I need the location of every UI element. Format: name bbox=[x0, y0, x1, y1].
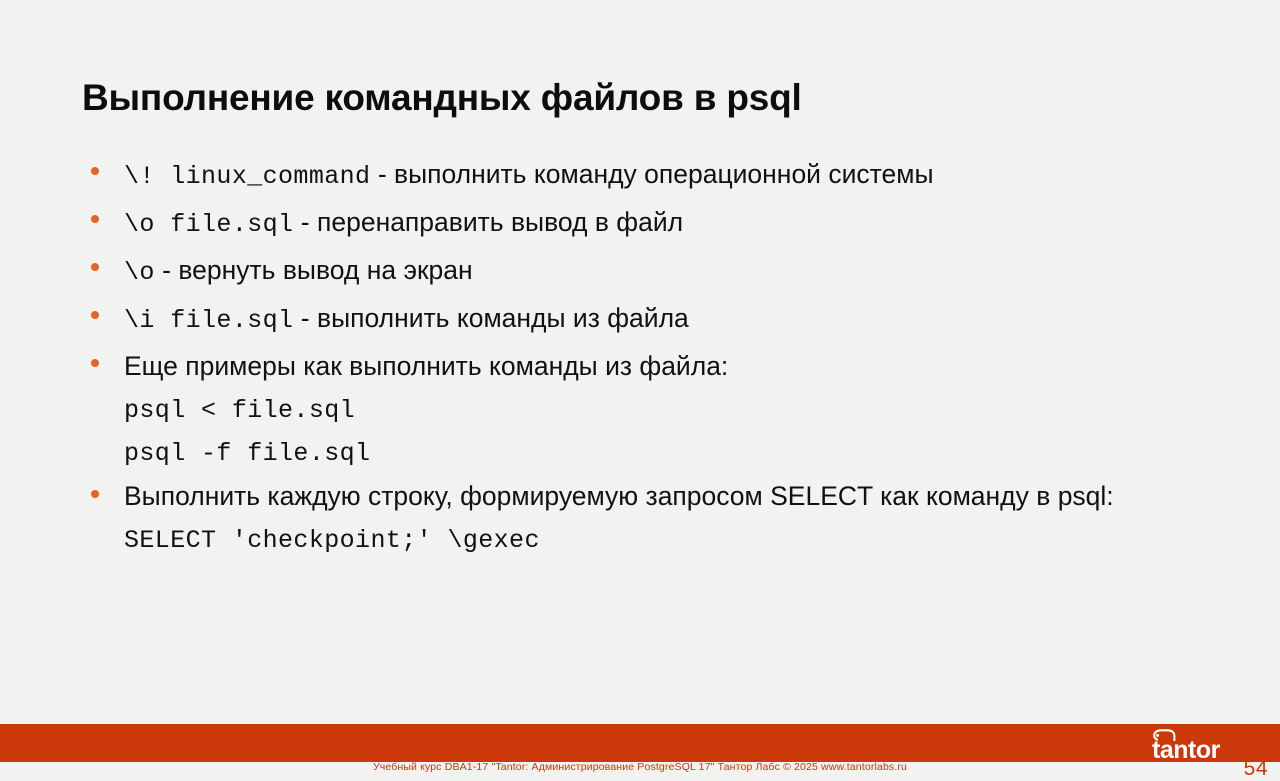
description-text: Выполнить каждую строку, формируемую зап… bbox=[124, 481, 1114, 511]
footer-copyright: Учебный курс DBA1-17 "Tantor: Администри… bbox=[0, 761, 1280, 773]
description-text: Еще примеры как выполнить команды из фай… bbox=[124, 351, 728, 381]
command-text: \! linux_command bbox=[124, 162, 370, 191]
logo-wordmark: tantor bbox=[1152, 736, 1221, 761]
list-item-line: Выполнить каждую строку, формируемую зап… bbox=[124, 475, 1242, 518]
list-item-line: \o file.sql - перенаправить вывод в файл bbox=[124, 200, 1242, 247]
code-block: psql < file.sql psql -f file.sql bbox=[82, 389, 1242, 475]
code-line: psql -f file.sql bbox=[124, 432, 1242, 475]
bullet-dot-icon bbox=[91, 215, 99, 223]
list-item: \o file.sql - перенаправить вывод в файл bbox=[82, 200, 1242, 247]
description-text: выполнить команду операционной системы bbox=[394, 159, 933, 189]
list-item-line: \! linux_command - выполнить команду опе… bbox=[124, 152, 1242, 199]
description-text: вернуть вывод на экран bbox=[178, 255, 472, 285]
bullet-dot-icon bbox=[91, 311, 99, 319]
description-text: перенаправить вывод в файл bbox=[317, 207, 683, 237]
footer-bar bbox=[0, 724, 1280, 762]
bullet-dot-icon bbox=[91, 359, 99, 367]
description-text: выполнить команды из файла bbox=[317, 303, 689, 333]
command-text: \o file.sql bbox=[124, 210, 293, 239]
bullet-dot-icon bbox=[91, 263, 99, 271]
list-item: Еще примеры как выполнить команды из фай… bbox=[82, 344, 1242, 388]
code-block: SELECT 'checkpoint;' \gexec bbox=[82, 519, 1242, 562]
separator-text: - bbox=[370, 159, 394, 189]
bullet-dot-icon bbox=[91, 490, 99, 498]
list-item-line: Еще примеры как выполнить команды из фай… bbox=[124, 344, 1242, 388]
tantor-logo: tantor bbox=[1152, 727, 1256, 761]
list-item-line: \o - вернуть вывод на экран bbox=[124, 248, 1242, 295]
list-item-line: \i file.sql - выполнить команды из файла bbox=[124, 296, 1242, 343]
page-title: Выполнение командных файлов в psql bbox=[82, 77, 802, 119]
bullet-list: \! linux_command - выполнить команду опе… bbox=[82, 152, 1242, 562]
list-item: Выполнить каждую строку, формируемую зап… bbox=[82, 475, 1242, 518]
code-line: psql < file.sql bbox=[124, 389, 1242, 432]
separator-text: - bbox=[293, 303, 317, 333]
command-text: \o bbox=[124, 258, 155, 287]
bullet-dot-icon bbox=[91, 167, 99, 175]
separator-text: - bbox=[155, 255, 179, 285]
code-line: SELECT 'checkpoint;' \gexec bbox=[124, 519, 1242, 562]
list-item: \i file.sql - выполнить команды из файла bbox=[82, 296, 1242, 343]
separator-text: - bbox=[293, 207, 317, 237]
list-item: \! linux_command - выполнить команду опе… bbox=[82, 152, 1242, 199]
list-item: \o - вернуть вывод на экран bbox=[82, 248, 1242, 295]
page-number: 54 bbox=[1244, 757, 1268, 781]
slide-root: Выполнение командных файлов в psql \! li… bbox=[0, 0, 1280, 781]
command-text: \i file.sql bbox=[124, 306, 293, 335]
